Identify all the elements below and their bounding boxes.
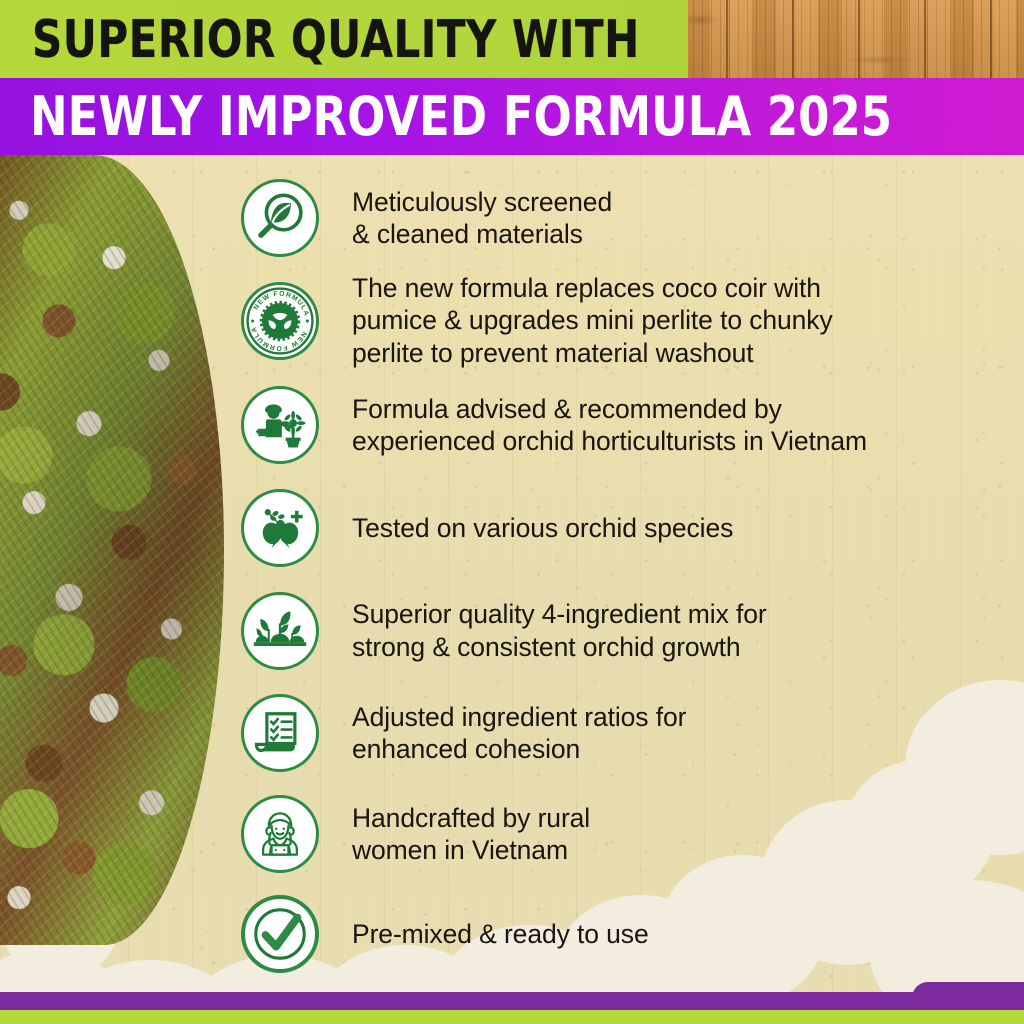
seedlings-icon [241, 592, 319, 670]
feature-icon-slot [238, 486, 322, 570]
feature-text-line: The new formula replaces coco coir with [352, 272, 833, 304]
bottom-purple-bar [0, 992, 1024, 1010]
feature-text: Meticulously screened & cleaned material… [352, 186, 612, 251]
feature-icon-slot [238, 383, 322, 467]
orchid-mix-pile [0, 155, 224, 945]
rural-woman-icon [241, 795, 319, 873]
feature-icon-slot [238, 176, 322, 260]
headline-line-1: SUPERIOR QUALITY WITH [32, 9, 640, 69]
feature-text: Tested on various orchid species [352, 512, 733, 544]
feature-text-line: women in Vietnam [352, 834, 590, 866]
feature-item: Meticulously screened & cleaned material… [238, 168, 1024, 268]
orchid-plus-icon [241, 489, 319, 567]
feature-text-line: strong & consistent orchid growth [352, 631, 767, 663]
feature-text-line: enhanced cohesion [352, 733, 686, 765]
feature-item: Tested on various orchid species [238, 477, 1024, 579]
product-photo [0, 155, 224, 945]
feature-list: Meticulously screened & cleaned material… [238, 168, 1024, 984]
headline-band-secondary: NEWLY IMPROVED FORMULA 2025 [0, 78, 1024, 155]
feature-item: Formula advised & recommended by experie… [238, 373, 1024, 477]
feature-item: Superior quality 4-ingredient mix for st… [238, 579, 1024, 682]
feature-text: Handcrafted by rural women in Vietnam [352, 802, 590, 867]
feature-text-line: Adjusted ingredient ratios for [352, 701, 686, 733]
feature-icon-slot [238, 589, 322, 673]
feature-icon-slot [238, 691, 322, 775]
feature-text-line: Handcrafted by rural [352, 802, 590, 834]
feature-item: Handcrafted by rural women in Vietnam [238, 784, 1024, 884]
gardener-watering-icon [241, 386, 319, 464]
feature-text-line: & cleaned materials [352, 218, 612, 250]
feature-text: Pre-mixed & ready to use [352, 918, 649, 950]
feature-text-line: Meticulously screened [352, 186, 612, 218]
feature-item: Pre-mixed & ready to use [238, 884, 1024, 984]
feature-text-line: pumice & upgrades mini perlite to chunky [352, 304, 833, 336]
feature-icon-slot [238, 892, 322, 976]
headline-line-2: NEWLY IMPROVED FORMULA 2025 [30, 85, 892, 149]
product-infographic-poster: SUPERIOR QUALITY WITH NEWLY IMPROVED FOR… [0, 0, 1024, 1024]
checkmark-circle-icon [241, 895, 319, 973]
headline-band-primary: SUPERIOR QUALITY WITH [0, 0, 688, 78]
feature-item: Adjusted ingredient ratios for enhanced … [238, 682, 1024, 784]
feature-text: The new formula replaces coco coir with … [352, 272, 833, 369]
checklist-icon [241, 694, 319, 772]
feature-text-line: experienced orchid horticulturists in Vi… [352, 425, 867, 457]
leaf-magnifier-icon [241, 179, 319, 257]
feature-text: Formula advised & recommended by experie… [352, 393, 867, 458]
feature-item: NEW FORMULA NEW FORMULA The new formula … [238, 268, 1024, 373]
feature-text-line: Tested on various orchid species [352, 512, 733, 544]
feature-text-line: Pre-mixed & ready to use [352, 918, 649, 950]
feature-text-line: Superior quality 4-ingredient mix for [352, 598, 767, 630]
feature-icon-slot: NEW FORMULA NEW FORMULA [238, 279, 322, 363]
new-formula-badge-icon: NEW FORMULA NEW FORMULA [241, 282, 319, 360]
feature-icon-slot [238, 792, 322, 876]
feature-text: Adjusted ingredient ratios for enhanced … [352, 701, 686, 766]
feature-text-line: perlite to prevent material washout [352, 337, 833, 369]
feature-text: Superior quality 4-ingredient mix for st… [352, 598, 767, 663]
feature-text-line: Formula advised & recommended by [352, 393, 867, 425]
bottom-green-bar [0, 1010, 1024, 1024]
bottom-purple-step [912, 982, 1024, 1010]
